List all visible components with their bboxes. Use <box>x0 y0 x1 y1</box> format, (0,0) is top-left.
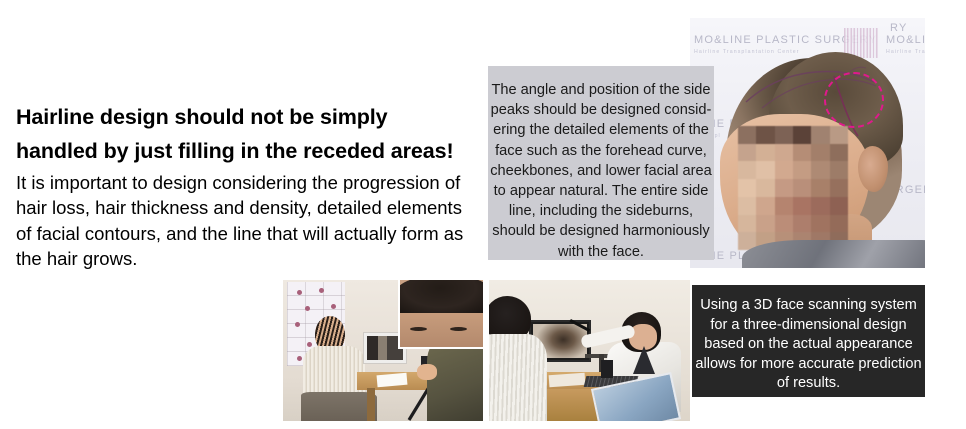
photo-3d-scan-session <box>283 280 483 421</box>
desk-small-device <box>601 360 613 378</box>
body-line-2: hair loss, hair thickness and density, d… <box>16 195 478 220</box>
headline-block: Hairline design should not be simply han… <box>16 100 476 168</box>
seated-patient-legs <box>301 392 377 421</box>
gray-callout-line-9: with the face. <box>488 242 714 262</box>
body-line-4: the hair grows. <box>16 246 478 271</box>
gray-callout-line-1: The angle and position of the side <box>488 80 714 100</box>
black-callout-line-4: allows for more accurate prediction <box>692 355 925 375</box>
headline-line-2: handled by just filling in the receded a… <box>16 134 476 168</box>
gray-callout-line-8: should be designed harmoniously <box>488 221 714 241</box>
black-callout-line-2: for a three-dimensional design <box>692 316 925 336</box>
face-pixelation-mosaic <box>738 126 848 250</box>
scanner-operator <box>427 338 483 421</box>
gray-callout-line-4: face such as the forehead curve, <box>488 141 714 161</box>
inset-eye-left <box>410 327 427 331</box>
operator-hand <box>417 364 437 380</box>
consult-patient-body <box>489 334 547 421</box>
inset-hairline-closeup <box>398 280 483 349</box>
side-peak-marker-circle-icon <box>824 72 884 128</box>
gray-callout-line-2: peaks should be designed consid- <box>488 100 714 120</box>
black-callout-line-1: Using a 3D face scanning system <box>692 296 925 316</box>
black-callout-box: Using a 3D face scanning system for a th… <box>692 285 925 397</box>
gray-callout-line-5: cheekbones, and lower facial area <box>488 161 714 181</box>
black-callout-line-5: of results. <box>692 374 925 394</box>
body-line-3: of facial contours, and the line that wi… <box>16 221 478 246</box>
inset-eye-right <box>450 327 467 331</box>
gray-callout-line-6: to appear natural. The entire side <box>488 181 714 201</box>
banner-text-repeat-4a: RY <box>890 18 907 36</box>
body-paragraph: It is important to design considering th… <box>16 170 478 271</box>
photo-consultation <box>489 280 690 421</box>
desk-document <box>549 373 586 387</box>
clinic-desk-leg <box>367 388 375 421</box>
patient-ear <box>858 146 888 192</box>
photo-side-profile: MO&LINE PLASTIC SURGERY Hairline Transpl… <box>690 18 925 268</box>
gray-callout-line-3: ering the detailed elements of the <box>488 120 714 140</box>
gray-callout-box: The angle and position of the side peaks… <box>488 66 714 260</box>
inset-face-region <box>400 313 483 349</box>
black-callout-line-3: based on the actual appearance <box>692 335 925 355</box>
headline-line-1: Hairline design should not be simply <box>16 100 476 134</box>
body-line-1: It is important to design considering th… <box>16 170 478 195</box>
patient-gown <box>742 240 925 268</box>
gray-callout-line-7: line, including the sideburns, <box>488 201 714 221</box>
